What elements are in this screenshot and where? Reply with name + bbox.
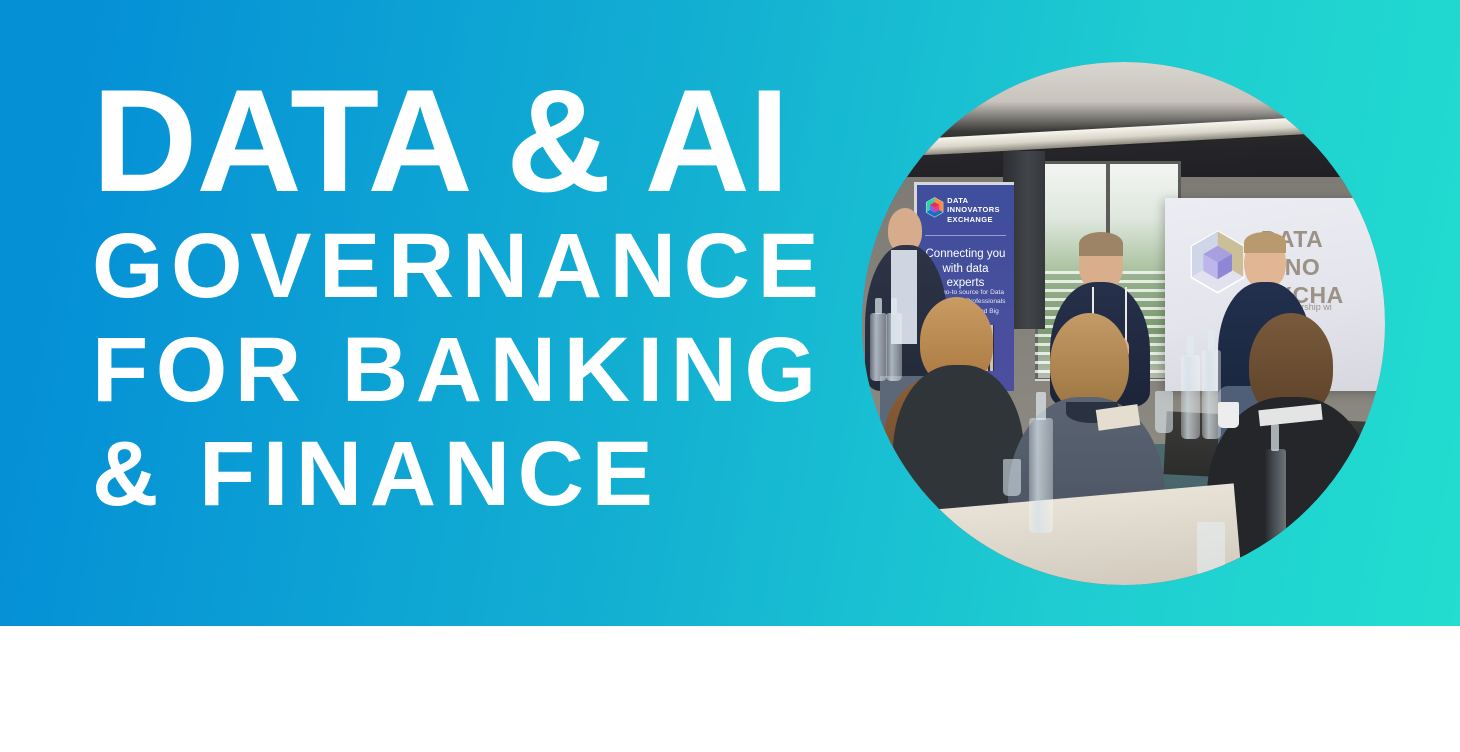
photo-speaker-hair: [1079, 232, 1123, 256]
photo-water-bottle-1: [1029, 418, 1053, 533]
photo-panellist-hair: [1244, 232, 1286, 253]
event-photo-scene: DATA INNO EXCHA In partnership wi FFREE: [862, 62, 1385, 585]
photo-glass-1: [1155, 391, 1173, 433]
page-title: DATA & AI GOVERNANCE FOR BANKING & FINAN…: [92, 78, 882, 520]
photo-coffee-cup: [1218, 402, 1239, 428]
event-photo: DATA INNO EXCHA In partnership wi FFREE: [862, 62, 1385, 585]
photo-water-bottle-5: [870, 313, 887, 381]
photo-water-bottle-2: [1181, 355, 1200, 439]
rollup-cube-logo-icon: [925, 196, 944, 219]
projection-cube-logo-icon: [1185, 229, 1250, 295]
promo-banner-canvas: DATA & AI GOVERNANCE FOR BANKING & FINAN…: [0, 0, 1460, 752]
rollup-divider: [925, 235, 1006, 236]
photo-glass-3: [1197, 522, 1226, 574]
headline-line-1: DATA & AI: [92, 78, 882, 204]
headline-line-4: & FINANCE: [92, 428, 882, 520]
footer-bar: SYD: THU 11 SEPT @12:00: [0, 626, 1460, 752]
headline-line-3: FOR BANKING: [92, 324, 882, 416]
photo-glass-2: [1003, 459, 1021, 496]
photo-water-bottle-4: [1265, 449, 1286, 564]
hero-gradient-panel: DATA & AI GOVERNANCE FOR BANKING & FINAN…: [0, 0, 1460, 626]
photo-water-bottle-6: [886, 313, 903, 381]
headline-line-2: GOVERNANCE: [92, 220, 882, 312]
photo-audience-body-2: [893, 365, 1024, 522]
rollup-brand-text: DATA INNOVATORS EXCHANGE: [947, 196, 1000, 225]
